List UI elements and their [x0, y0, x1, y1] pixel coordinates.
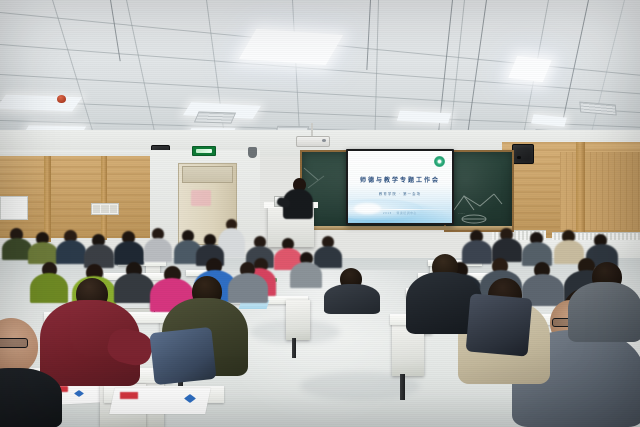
desk-leg	[292, 338, 296, 358]
projection-screen: 师德与教学专题工作会 教育学院 · 第一会场 2016 · 师资培训中心	[346, 149, 454, 225]
ceiling-light-panel	[239, 29, 343, 65]
presentation-slide: 师德与教学专题工作会 教育学院 · 第一会场 2016 · 师资培训中心	[348, 151, 452, 223]
wall-post	[101, 152, 107, 240]
institution-emblem-icon	[434, 156, 445, 167]
projector-lens-icon	[322, 139, 326, 142]
attendee-body	[324, 284, 380, 314]
ceiling-light-panel	[508, 56, 551, 82]
exit-sign	[192, 146, 216, 156]
projector-mount	[311, 123, 313, 137]
wall-wood-panel-left	[0, 152, 150, 238]
ceiling-light-panel	[0, 95, 82, 112]
handout-mark	[120, 392, 138, 399]
backpack	[149, 327, 216, 385]
chalk-sketch: ·····	[450, 186, 508, 226]
slide-title: 师德与教学专题工作会	[348, 175, 452, 184]
attendee-body	[114, 273, 154, 303]
slide-footer: 2016 · 师资培训中心	[348, 211, 452, 215]
attendee-body	[30, 273, 68, 303]
ceiling-air-vent	[579, 101, 616, 115]
desk-end-panel	[286, 300, 310, 340]
ceiling-camera-icon	[248, 147, 257, 158]
ceiling-air-vent	[194, 111, 236, 123]
ceiling	[0, 0, 640, 150]
attendee-body	[314, 246, 342, 268]
attendee-body	[228, 273, 268, 303]
attendee-body	[462, 240, 492, 264]
door-transom	[182, 166, 233, 183]
slide-subtitle: 教育学院 · 第一会场	[348, 191, 452, 196]
wall-post	[44, 150, 51, 242]
backpack	[466, 293, 533, 356]
chalk-tray	[298, 226, 512, 230]
ceiling-light-panel	[531, 114, 567, 127]
classroom-photo: ····· 师德与教学专题工作会 教育学院 · 第一会场 2016 · 师资培训…	[0, 0, 640, 427]
attendee-body	[144, 238, 172, 262]
svg-text:·····: ·····	[458, 211, 465, 216]
wall-post	[576, 142, 585, 242]
fire-sprinkler-icon	[57, 95, 66, 103]
attendee-body	[568, 282, 640, 342]
attendee-body	[28, 242, 58, 264]
light-switch-panel[interactable]	[91, 203, 119, 215]
door-poster	[191, 190, 211, 206]
attendee-body	[114, 241, 144, 265]
wall-wood-panel-right-upper	[560, 152, 640, 230]
attendee-body	[290, 262, 322, 288]
ceiling-light-panel	[397, 111, 451, 124]
eyeglasses-icon	[0, 338, 28, 348]
attendee-body	[56, 240, 86, 264]
wall-speaker	[512, 144, 534, 164]
desk-leg	[400, 374, 405, 400]
wall-notice	[0, 196, 28, 220]
